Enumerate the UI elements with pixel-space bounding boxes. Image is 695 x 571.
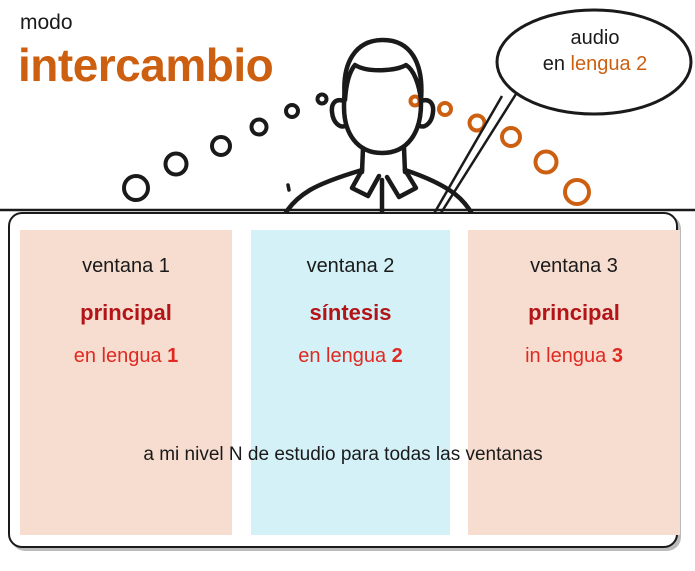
speech-bubble-text: audio en lengua 2 bbox=[505, 26, 685, 77]
window-column-2[interactable]: ventana 2 síntesis en lengua 2 bbox=[251, 230, 450, 535]
window-2-language-number: 2 bbox=[392, 345, 403, 367]
speech-bubble-line-2-prefix: en bbox=[543, 53, 571, 75]
window-3-language-prefix: in lengua bbox=[525, 345, 612, 367]
window-2-role: síntesis bbox=[251, 302, 450, 324]
window-column-1[interactable]: ventana 1 principal en lengua 1 bbox=[20, 230, 232, 535]
heading-pre-label: modo bbox=[20, 12, 73, 33]
window-3-language-number: 3 bbox=[612, 345, 623, 367]
speech-bubble-line-1: audio bbox=[505, 26, 685, 52]
window-3-language: in lengua 3 bbox=[468, 346, 680, 366]
speech-bubble-line-2-accent: lengua 2 bbox=[571, 53, 648, 75]
window-1-label: ventana 1 bbox=[20, 256, 232, 276]
black-bubble-circles bbox=[124, 95, 327, 201]
panel-caption: a mi nivel N de estudio para todas las v… bbox=[8, 445, 678, 464]
speech-bubble-line-2: en lengua 2 bbox=[505, 52, 685, 78]
window-1-role: principal bbox=[20, 302, 232, 324]
window-1-language-prefix: en lengua bbox=[74, 345, 167, 367]
window-2-language-prefix: en lengua bbox=[298, 345, 391, 367]
orange-bubble-circles bbox=[411, 97, 590, 205]
page-title: intercambio bbox=[18, 42, 273, 88]
window-1-language-number: 1 bbox=[167, 345, 178, 367]
window-3-role: principal bbox=[468, 302, 680, 324]
diagram-canvas: modo intercambio bbox=[0, 0, 695, 571]
window-column-3[interactable]: ventana 3 principal in lengua 3 bbox=[468, 230, 680, 535]
window-1-language: en lengua 1 bbox=[20, 346, 232, 366]
window-2-language: en lengua 2 bbox=[251, 346, 450, 366]
window-2-label: ventana 2 bbox=[251, 256, 450, 276]
window-3-label: ventana 3 bbox=[468, 256, 680, 276]
